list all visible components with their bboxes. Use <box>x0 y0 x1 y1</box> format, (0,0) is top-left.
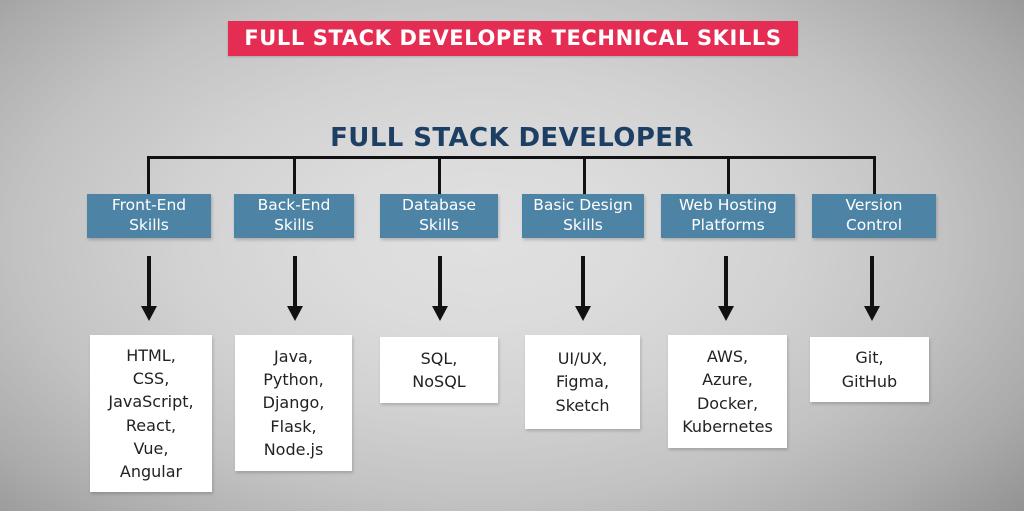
connector-drop-web-hosting <box>727 156 730 196</box>
category-box-basic-design[interactable]: Basic DesignSkills <box>522 194 644 238</box>
detail-text-database: SQL, NoSQL <box>412 347 465 393</box>
category-box-version-control[interactable]: VersionControl <box>812 194 936 238</box>
category-label-back-end: Back-EndSkills <box>258 196 331 236</box>
connector-drop-back-end <box>293 156 296 196</box>
detail-text-back-end: Java, Python, Django, Flask, Node.js <box>263 345 325 461</box>
detail-box-web-hosting[interactable]: AWS, Azure, Docker, Kubernetes <box>668 335 787 448</box>
title-banner: FULL STACK DEVELOPER TECHNICAL SKILLS <box>228 21 798 56</box>
connector-drop-database <box>438 156 441 196</box>
category-box-database[interactable]: DatabaseSkills <box>380 194 498 238</box>
category-label-web-hosting: Web HostingPlatforms <box>679 196 777 236</box>
category-box-back-end[interactable]: Back-EndSkills <box>234 194 354 238</box>
title-banner-text: FULL STACK DEVELOPER TECHNICAL SKILLS <box>244 28 781 49</box>
detail-text-version-control: Git, GitHub <box>842 346 897 392</box>
category-box-front-end[interactable]: Front-EndSkills <box>87 194 211 238</box>
detail-text-web-hosting: AWS, Azure, Docker, Kubernetes <box>682 345 773 438</box>
connector-drop-version-control <box>873 156 876 196</box>
root-node-label: FULL STACK DEVELOPER <box>0 125 1024 151</box>
category-label-basic-design: Basic DesignSkills <box>533 196 632 236</box>
category-label-version-control: VersionControl <box>846 196 903 236</box>
connector-drop-front-end <box>147 156 150 196</box>
category-label-front-end: Front-EndSkills <box>112 196 186 236</box>
connector-drop-basic-design <box>583 156 586 196</box>
detail-box-back-end[interactable]: Java, Python, Django, Flask, Node.js <box>235 335 352 471</box>
detail-box-version-control[interactable]: Git, GitHub <box>810 337 929 402</box>
category-label-database: DatabaseSkills <box>402 196 476 236</box>
detail-text-front-end: HTML, CSS, JavaScript, React, Vue, Angul… <box>108 344 193 483</box>
horizontal-connector-bus <box>147 156 876 159</box>
detail-box-basic-design[interactable]: UI/UX, Figma, Sketch <box>525 335 640 429</box>
category-box-web-hosting[interactable]: Web HostingPlatforms <box>661 194 795 238</box>
detail-text-basic-design: UI/UX, Figma, Sketch <box>556 347 610 417</box>
diagram-canvas: FULL STACK DEVELOPER TECHNICAL SKILLS FU… <box>0 0 1024 511</box>
detail-box-front-end[interactable]: HTML, CSS, JavaScript, React, Vue, Angul… <box>90 335 212 492</box>
detail-box-database[interactable]: SQL, NoSQL <box>380 337 498 403</box>
